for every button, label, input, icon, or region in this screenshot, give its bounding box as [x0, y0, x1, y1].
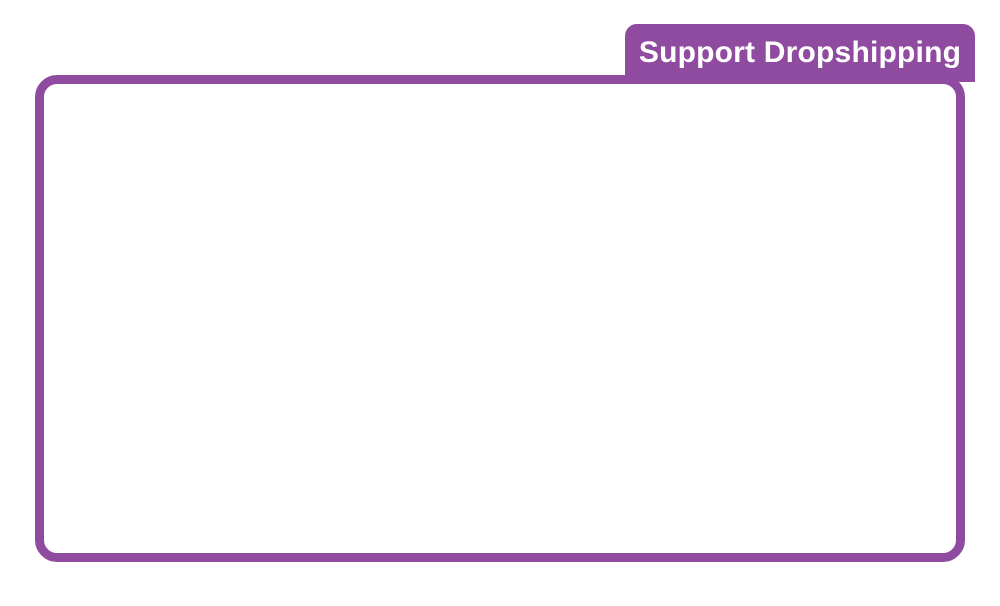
content-card — [35, 75, 965, 562]
header-banner: Support Dropshipping — [625, 24, 975, 82]
banner-title: Support Dropshipping — [639, 36, 961, 70]
dropshipping-infographic: Support Dropshipping — [0, 0, 1000, 606]
